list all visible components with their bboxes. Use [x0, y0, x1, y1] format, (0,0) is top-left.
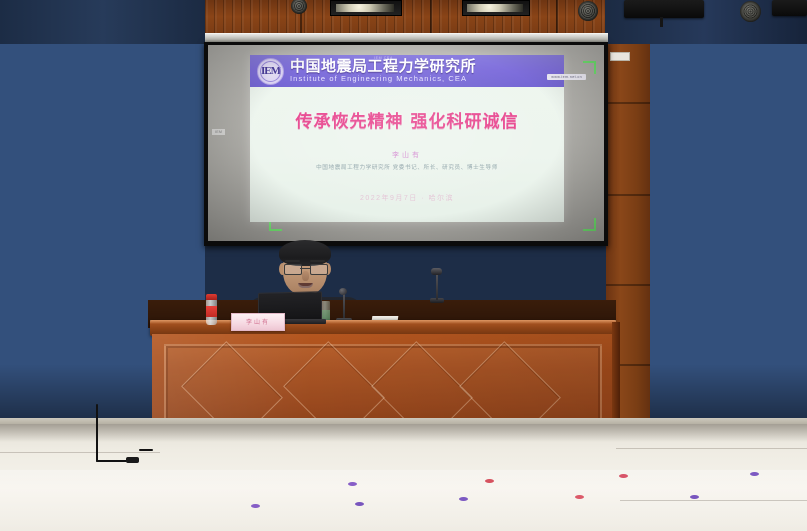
slide-left-chip: IEM: [212, 129, 225, 135]
floor-tile-seam: [0, 452, 160, 453]
floor-marker-dot: [459, 497, 468, 501]
floor-marker-dot: [251, 504, 260, 508]
ceiling-speaker-box: [624, 0, 704, 18]
round-speaker: [740, 1, 761, 22]
floor-marker-dot: [575, 495, 584, 499]
desk-nameplate: 李山有: [231, 313, 285, 331]
floor-marker-dot: [619, 474, 628, 478]
desk-top-highlight: [150, 320, 616, 324]
water-bottle-cap: [206, 294, 217, 300]
ceiling: [0, 0, 807, 48]
floor-tile-seam: [620, 500, 807, 501]
cable-plug: [126, 457, 139, 463]
spot-light: [462, 0, 530, 16]
slide-header-band: IEM 中国地震局工程力学研究所 Institute of Engineerin…: [250, 55, 564, 87]
slide-org-name-en: Institute of Engineering Mechanics, CEA: [290, 75, 476, 83]
floor-marker-dot: [485, 479, 494, 483]
second-microphone-head: [431, 268, 442, 275]
floor-shadow: [0, 424, 807, 442]
registration-corner-bottom-right-icon: [583, 218, 596, 231]
ceiling-speaker-box: [772, 0, 807, 16]
floor-marker-dot: [750, 472, 759, 476]
power-cable: [139, 449, 153, 451]
slide-title: 传承恢先精神 强化科研诚信: [250, 107, 564, 132]
slide-speaker-affiliation: 中国地震局工程力学研究所 党委书记、所长、研究员、博士生导师: [250, 163, 564, 171]
floor-marker-dot: [690, 495, 699, 499]
gooseneck-microphone-neck: [343, 292, 345, 320]
second-microphone-neck: [436, 272, 438, 300]
floor-marker-dot: [348, 482, 357, 486]
presentation-slide: IEM 中国地震局工程力学研究所 Institute of Engineerin…: [250, 55, 564, 222]
floor-tile-seam: [616, 448, 807, 449]
slide-header-tiny-label: IEM CEA: [374, 56, 393, 60]
slide-url-chip: www.iem.net.cn: [547, 74, 586, 80]
floor-marker-dot: [355, 502, 364, 506]
round-speaker: [578, 1, 598, 21]
ceiling-curtain-left: [0, 0, 206, 48]
slide-date: 2022年9月7日 · 哈尔滨: [250, 193, 564, 203]
slide-org-name-cn: 中国地震局工程力学研究所: [290, 59, 476, 74]
nose: [302, 271, 309, 281]
slide-speaker-name: 李山有: [250, 150, 564, 160]
eyebrow-left: [285, 260, 300, 262]
spot-light: [330, 0, 402, 16]
registration-corner-top-right-icon: [583, 61, 596, 74]
power-cable: [96, 404, 98, 462]
hair: [279, 240, 331, 266]
desk-nameplate-text: 李山有: [232, 317, 284, 326]
power-cable: [96, 460, 130, 462]
lecture-hall-photo: IEM 中国地震局工程力学研究所 Institute of Engineerin…: [0, 0, 807, 531]
curtain-right: [650, 44, 807, 424]
eyebrow-right: [310, 260, 325, 262]
logo-mark-text: IEM: [261, 66, 280, 77]
wall-socket: [610, 52, 630, 61]
institute-logo-icon: IEM: [257, 58, 284, 85]
water-bottle-label: [206, 306, 217, 317]
gooseneck-microphone-head: [339, 288, 347, 295]
